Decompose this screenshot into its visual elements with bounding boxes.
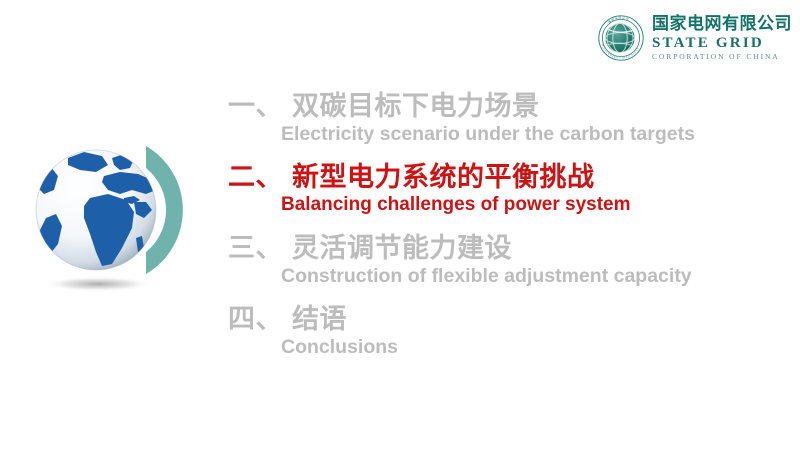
- agenda-item-1-label-cn: 双碳目标下电力场景: [292, 91, 540, 122]
- agenda-item-1-title-cn: 一、双碳目标下电力场景: [228, 92, 788, 122]
- agenda-item-1-title-en: Electricity scenario under the carbon ta…: [281, 123, 788, 146]
- agenda-item-3-title-en: Construction of flexible adjustment capa…: [281, 265, 788, 288]
- agenda-item-3[interactable]: 三、灵活调节能力建设 Construction of flexible adju…: [228, 234, 788, 288]
- agenda-item-4-title-cn: 四、结语: [228, 305, 788, 335]
- agenda-item-2[interactable]: 二、新型电力系统的平衡挑战 Balancing challenges of po…: [228, 163, 788, 217]
- earth-globe-illustration: [28, 132, 213, 317]
- logo-wordmark: 国家电网有限公司 STATE GRID CORPORATION OF CHINA: [652, 16, 792, 61]
- presentation-slide: 国家电网公司 STATE GRID CORPORATION 国家电网有限公司 S…: [0, 0, 800, 450]
- agenda-item-3-number: 三、: [228, 233, 283, 264]
- agenda-item-4[interactable]: 四、结语 Conclusions: [228, 305, 788, 359]
- agenda-item-4-number: 四、: [228, 304, 283, 335]
- agenda-item-1-number: 一、: [228, 91, 283, 122]
- agenda-item-1[interactable]: 一、双碳目标下电力场景 Electricity scenario under t…: [228, 92, 788, 146]
- logo-company-subtitle: CORPORATION OF CHINA: [652, 53, 792, 61]
- agenda-item-2-title-en: Balancing challenges of power system: [281, 194, 788, 216]
- agenda-item-3-title-cn: 三、灵活调节能力建设: [228, 234, 788, 264]
- globe-drop-shadow: [43, 277, 153, 292]
- state-grid-logo: 国家电网公司 STATE GRID CORPORATION 国家电网有限公司 S…: [597, 14, 792, 62]
- agenda-item-2-number: 二、: [228, 162, 283, 193]
- logo-company-name-en: STATE GRID: [652, 36, 792, 51]
- logo-company-name-cn: 国家电网有限公司: [652, 16, 792, 33]
- agenda-item-2-label-cn: 新型电力系统的平衡挑战: [292, 162, 595, 193]
- agenda-item-4-label-cn: 结语: [292, 304, 347, 335]
- agenda-item-4-title-en: Conclusions: [281, 336, 788, 359]
- state-grid-globe-emblem-icon: 国家电网公司 STATE GRID CORPORATION: [597, 14, 645, 62]
- agenda-item-2-title-cn: 二、新型电力系统的平衡挑战: [228, 163, 788, 193]
- agenda-item-3-label-cn: 灵活调节能力建设: [292, 233, 512, 264]
- agenda-list: 一、双碳目标下电力场景 Electricity scenario under t…: [228, 92, 788, 359]
